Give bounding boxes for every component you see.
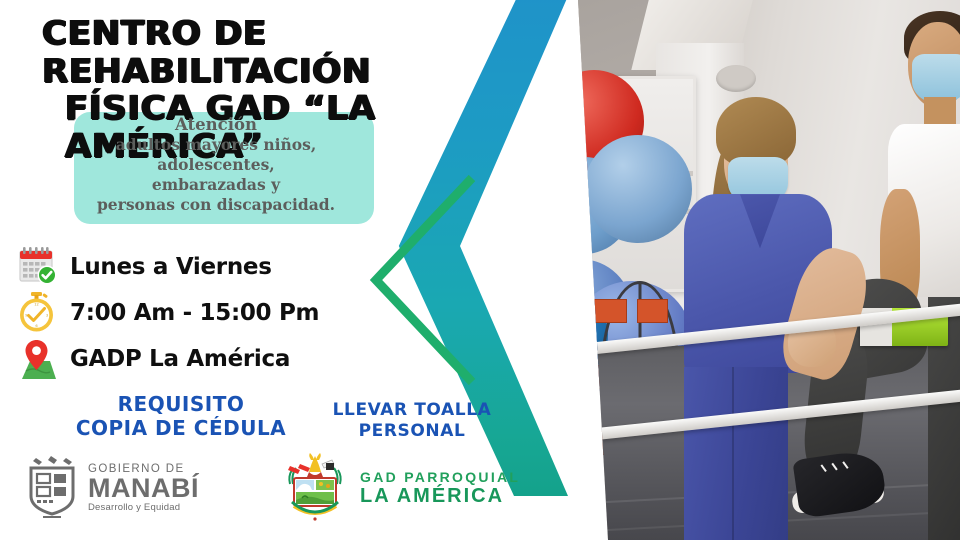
gad-line-2: LA AMÉRICA bbox=[360, 485, 520, 508]
info-line-4: embarazadas y bbox=[60, 175, 372, 195]
therapist-scrub-pants bbox=[684, 367, 788, 540]
sneaker-stripe bbox=[842, 461, 848, 469]
schedule-days-text: Lunes a Viernes bbox=[70, 254, 272, 280]
title-line-1: CENTRO DE REHABILITACIÓN bbox=[42, 14, 583, 89]
photo-scene bbox=[560, 0, 960, 540]
schedule-row-place: GADP La América bbox=[14, 336, 374, 382]
green-chevron-outline bbox=[360, 170, 482, 390]
stopwatch-icon: 12 3 6 9 bbox=[14, 291, 70, 335]
schedule-place-text: GADP La América bbox=[70, 346, 290, 372]
attention-info-text: Atención adultos mayores niños, adolesce… bbox=[60, 114, 372, 214]
gad-wordmark: GAD PARROQUIAL LA AMÉRICA bbox=[360, 469, 520, 508]
requirement-copy-id: REQUISITO COPIA DE CÉDULA bbox=[58, 392, 304, 440]
location-pin-icon bbox=[14, 337, 70, 381]
schedule-row-days: Lunes a Viernes bbox=[14, 244, 374, 290]
requirement-left-line-2: COPIA DE CÉDULA bbox=[58, 416, 304, 440]
schedule-list: Lunes a Viernes 12 3 6 9 bbox=[14, 244, 374, 382]
gad-line-1: GAD PARROQUIAL bbox=[360, 469, 520, 485]
requirement-bring-towel: LLEVAR TOALLA PERSONAL bbox=[312, 400, 512, 443]
manabi-line-3: Desarrollo y Equidad bbox=[88, 502, 199, 513]
parallel-bar-post bbox=[576, 410, 585, 540]
logo-gad-parroquial: GAD PARROQUIAL LA AMÉRICA bbox=[282, 452, 520, 524]
schedule-hours-text: 7:00 Am - 15:00 Pm bbox=[70, 300, 319, 326]
logo-gobierno-manabi: GOBIERNO DE MANABÍ Desarrollo y Equidad bbox=[26, 456, 199, 520]
ceiling-vent bbox=[716, 65, 756, 92]
manabi-wordmark: GOBIERNO DE MANABÍ Desarrollo y Equidad bbox=[88, 463, 199, 513]
blue-exercise-ball bbox=[584, 135, 692, 243]
poster-canvas: CENTRO DE REHABILITACIÓN FÍSICA GAD “LA … bbox=[0, 0, 960, 540]
manabi-shield-crest-icon bbox=[26, 456, 78, 520]
requirement-right-line-1: LLEVAR TOALLA bbox=[312, 400, 512, 421]
schedule-row-hours: 12 3 6 9 7:00 Am - 15:00 Pm bbox=[14, 290, 374, 336]
sneaker-stripe bbox=[821, 464, 827, 472]
chevron-left-icon bbox=[360, 170, 482, 390]
requirement-right-line-2: PERSONAL bbox=[312, 421, 512, 442]
svg-text:12: 12 bbox=[34, 303, 39, 307]
la-america-coat-of-arms-icon bbox=[282, 452, 348, 524]
info-line-3: adolescentes, bbox=[60, 155, 372, 175]
calendar-check-icon bbox=[14, 245, 70, 289]
rehabilitation-photo bbox=[560, 0, 960, 540]
info-line-5: personas con discapacidad. bbox=[60, 195, 372, 215]
therapist-pant-seam bbox=[732, 367, 734, 540]
svg-text:3: 3 bbox=[46, 313, 48, 317]
patient-face-mask bbox=[912, 54, 960, 103]
manabi-line-2: MANABÍ bbox=[88, 475, 199, 502]
wheel-pad bbox=[594, 299, 627, 323]
info-line-2: adultos mayores niños, bbox=[60, 135, 372, 155]
requirement-left-line-1: REQUISITO bbox=[58, 392, 304, 416]
wheel-pad bbox=[637, 299, 668, 323]
sneaker-stripe bbox=[831, 462, 837, 470]
info-line-1: Atención bbox=[60, 114, 372, 135]
